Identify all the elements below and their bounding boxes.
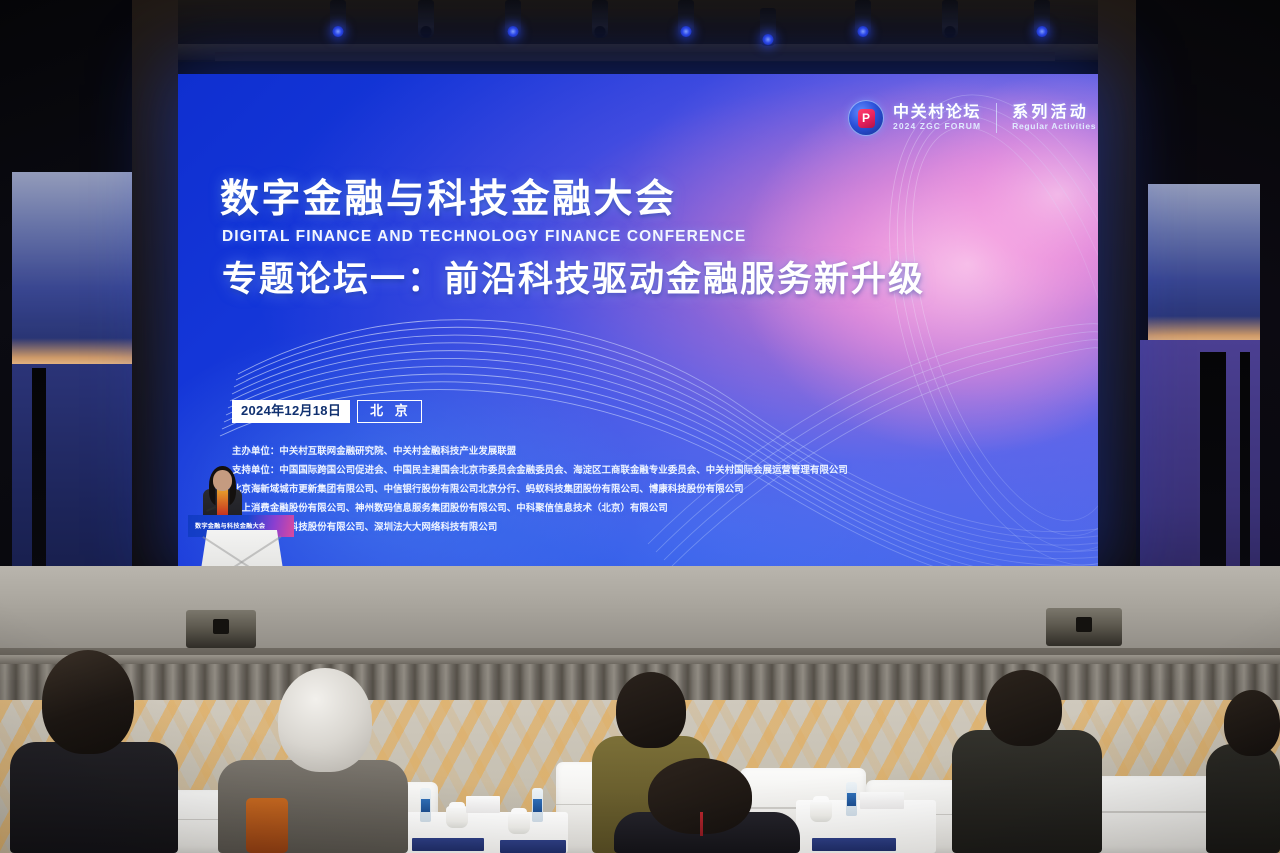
stage-monitor-speaker (186, 610, 256, 648)
stage-light (942, 0, 958, 38)
stage-light (592, 0, 608, 38)
organizer-line: 支持单位：中国国际跨国公司促进会、中国民主建国会北京市委员会金融委员会、海淀区工… (232, 465, 932, 474)
organizer-line: 上海合合信息科技股份有限公司、深圳法大大网络科技有限公司 (232, 522, 932, 531)
conference-title-cn: 数字金融与科技金融大会 (220, 180, 677, 219)
zgc-forum-logo-lockup: P 中关村论坛 2024 ZGC FORUM 系列活动 Regular Acti… (848, 100, 1096, 136)
logo-series-cn: 系列活动 (1012, 104, 1089, 121)
tea-mug (810, 800, 832, 822)
water-bottle (846, 782, 857, 816)
speaker-scarf (217, 489, 228, 515)
attendee-orange-scarf (246, 798, 288, 853)
wall-panel-left-upper (12, 172, 132, 364)
attendee-head (986, 670, 1062, 746)
logo-series-en: Regular Activities (1012, 121, 1096, 132)
logo-divider (996, 103, 997, 133)
organizer-list: 主办单位：中关村互联网金融研究院、中关村金融科技产业发展联盟 支持单位：中国国际… (232, 446, 932, 541)
tea-mug (508, 812, 530, 834)
attendee-body (952, 730, 1102, 853)
stage-monitor-speaker (1046, 608, 1122, 646)
stage-light (760, 8, 776, 46)
program-card (412, 838, 484, 851)
attendee-body (1206, 744, 1280, 853)
organizer-line: 北京海新域城市更新集团有限公司、中信银行股份有限公司北京分行、蚂蚁科技集团股份有… (232, 484, 932, 493)
stage-light (330, 0, 346, 38)
event-city-badge: 北 京 (357, 400, 422, 423)
attendee-head (278, 668, 372, 772)
emblem-core-glyph: P (858, 109, 875, 128)
program-card (812, 838, 896, 851)
wall-column-right (1098, 0, 1136, 640)
place-name-card (466, 796, 500, 813)
stage-light (855, 0, 871, 38)
program-card (500, 840, 566, 853)
logo-brand-cn: 中关村论坛 (893, 104, 981, 121)
conference-photo-scene: P 中关村论坛 2024 ZGC FORUM 系列活动 Regular Acti… (0, 0, 1280, 853)
place-name-card (860, 792, 904, 809)
attendee-head (42, 650, 134, 754)
stage-light (418, 0, 434, 38)
zgc-emblem-icon: P (848, 100, 884, 136)
stage-light (505, 0, 521, 38)
water-bottle (532, 788, 543, 822)
date-location-bar: 2024年12月18日 北 京 (232, 400, 422, 423)
attendee-body (10, 742, 178, 853)
stage-light (1034, 0, 1050, 38)
podium-banner-text: 数字金融与科技金融大会 (195, 521, 265, 530)
conference-title-en: DIGITAL FINANCE AND TECHNOLOGY FINANCE C… (222, 228, 746, 246)
event-date-badge: 2024年12月18日 (232, 400, 350, 423)
logo-brand-text: 中关村论坛 2024 ZGC FORUM (893, 104, 981, 133)
tea-mug (446, 806, 468, 828)
speaker-head (213, 470, 232, 491)
stage-light (678, 0, 694, 38)
attendee-head (616, 672, 686, 748)
ceiling-truss-beam-secondary (215, 52, 1055, 61)
logo-brand-en: 2024 ZGC FORUM (893, 121, 981, 132)
attendee-head (1224, 690, 1280, 756)
organizer-line: 主办单位：中关村互联网金融研究院、中关村金融科技产业发展联盟 (232, 446, 932, 455)
wall-panel-right-upper (1148, 184, 1260, 342)
logo-series-text: 系列活动 Regular Activities (1012, 104, 1096, 133)
organizer-line: 马上消费金融股份有限公司、神州数码信息服务集团股份有限公司、中科聚信信息技术（北… (232, 503, 932, 512)
attendee-lanyard (700, 812, 703, 836)
water-bottle (420, 788, 431, 822)
forum-subtitle-cn: 专题论坛一：前沿科技驱动金融服务新升级 (222, 262, 925, 297)
wall-column-left (132, 0, 178, 640)
